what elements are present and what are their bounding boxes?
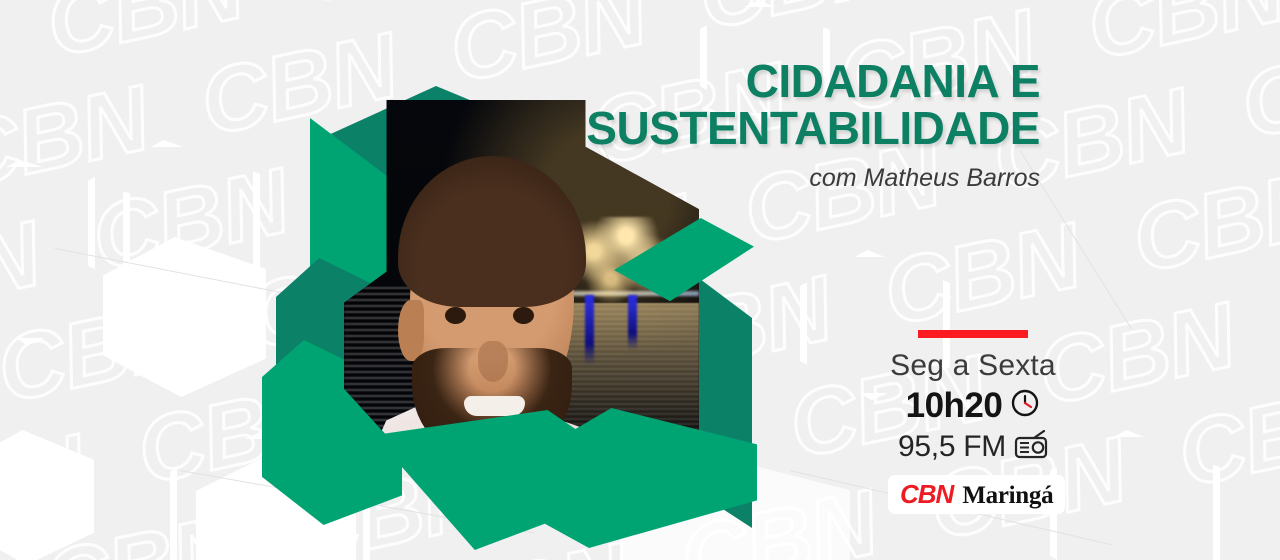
watermark-text: CBN xyxy=(0,418,93,556)
program-headline: CIDADANIA E SUSTENTABILIDADE com Matheus… xyxy=(586,58,1040,193)
portrait-hair xyxy=(398,156,585,307)
radio-program-banner: CBN CBN CBN CBN CBN CBN CBN CBN CBN CBN … xyxy=(0,0,1280,560)
station-logo: CBN Maringá xyxy=(888,475,1065,514)
watermark-text: CBN xyxy=(38,0,251,76)
schedule-days: Seg a Sexta xyxy=(888,350,1058,382)
portrait-eye-right xyxy=(513,307,534,324)
schedule-frequency: 95,5 FM xyxy=(898,430,1006,464)
clock-icon xyxy=(1010,388,1040,423)
watermark-text: CBN xyxy=(0,284,202,422)
decorative-polygon xyxy=(0,160,130,345)
portrait-smile xyxy=(464,396,525,417)
accent-divider xyxy=(918,330,1028,338)
watermark-text: CBN xyxy=(1030,286,1243,424)
station-city: Maringá xyxy=(962,482,1053,510)
schedule-frequency-row: 95,5 FM xyxy=(888,430,1058,465)
headline-line-2: SUSTENTABILIDADE xyxy=(586,105,1040,152)
schedule-time-row: 10h20 xyxy=(888,386,1058,426)
photo-blue-light xyxy=(628,295,637,350)
radio-icon xyxy=(1014,430,1048,465)
watermark-text: CBN xyxy=(35,497,248,560)
portrait-nose xyxy=(478,341,508,382)
watermark-text: CBN xyxy=(876,207,1089,345)
decorative-polygon xyxy=(88,140,260,310)
watermark-text: CBN xyxy=(690,0,903,49)
watermark-text: CBN xyxy=(1125,154,1280,292)
watermark-text: CBN xyxy=(1233,19,1280,157)
decorative-polygon xyxy=(0,430,94,560)
broadcast-schedule: Seg a Sexta 10h20 95,5 FM xyxy=(888,330,1058,514)
watermark-text: CBN xyxy=(0,0,2,129)
watermark-text: CBN xyxy=(1079,0,1280,78)
watermark-text: CBN xyxy=(0,204,48,342)
watermark-text: CBN xyxy=(0,70,157,208)
headline-line-1: CIDADANIA E xyxy=(586,58,1040,105)
watermark-text: CBN xyxy=(287,0,500,23)
decorative-polygon xyxy=(1050,430,1220,560)
network-name: CBN xyxy=(900,479,953,510)
portrait-eye-left xyxy=(445,307,466,324)
host-credit: com Matheus Barros xyxy=(586,164,1040,193)
portrait-ear xyxy=(398,300,424,362)
decorative-polygon xyxy=(103,237,266,397)
schedule-time: 10h20 xyxy=(906,386,1003,426)
watermark-text: CBN xyxy=(1170,368,1280,506)
